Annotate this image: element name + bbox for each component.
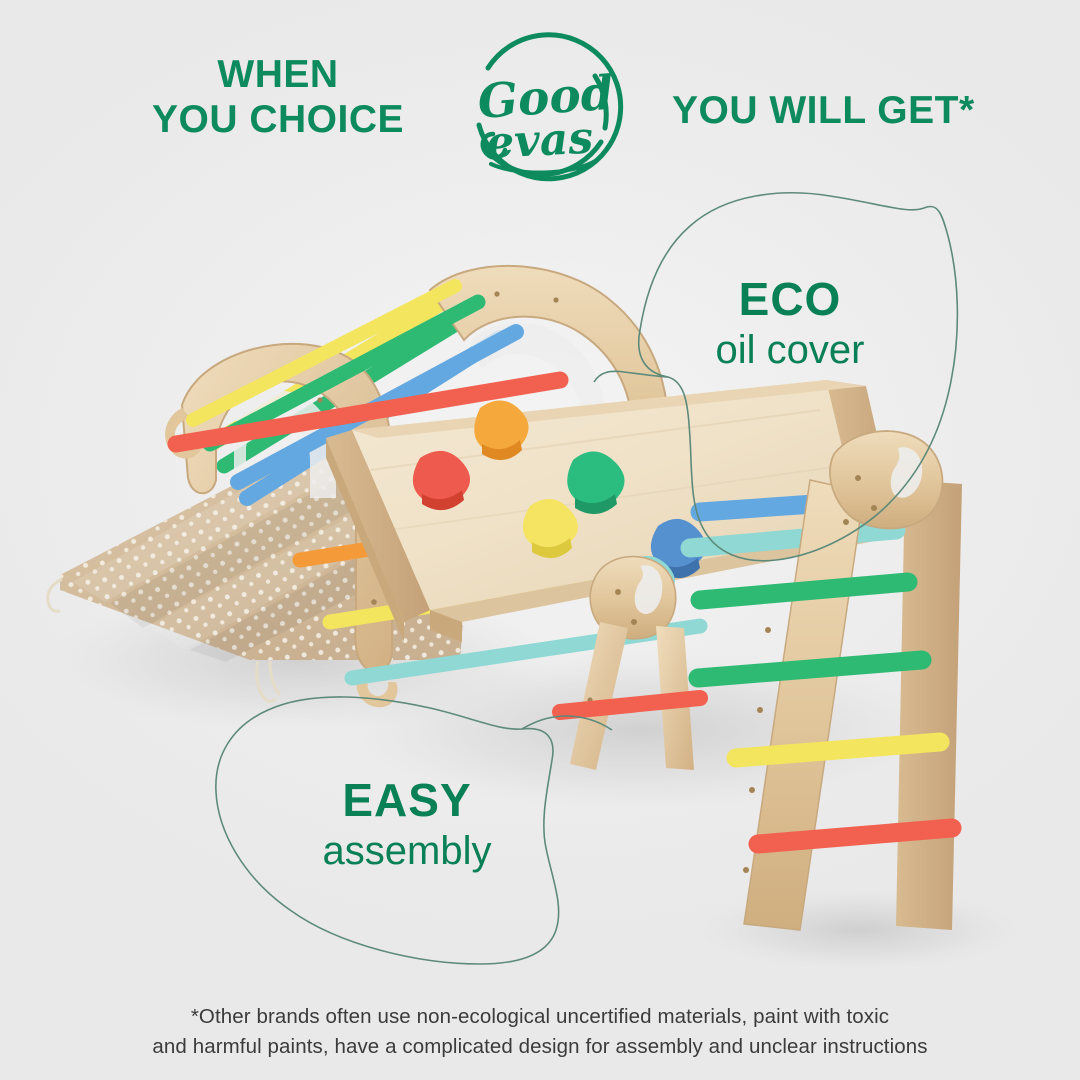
goodevas-logo: Good evas <box>455 30 627 202</box>
easy-subtitle: assembly <box>262 829 552 874</box>
svg-text:evas: evas <box>485 112 594 169</box>
headline-left-line1: WHEN <box>128 52 428 97</box>
headline-left: WHEN YOU CHOICE <box>128 52 428 142</box>
footnote: *Other brands often use non-ecological u… <box>0 1002 1080 1062</box>
promo-banner: ECO oil cover EASY assembly WHEN YOU CHO… <box>0 0 1080 1080</box>
headline-right: YOU WILL GET* <box>672 88 1022 133</box>
eco-title: ECO <box>645 274 935 326</box>
grip-orange <box>474 400 528 460</box>
headline-left-line2: YOU CHOICE <box>128 97 428 142</box>
easy-title: EASY <box>262 775 552 827</box>
ladder-right <box>672 431 962 930</box>
footnote-line2: and harmful paints, have a complicated d… <box>0 1032 1080 1062</box>
easy-callout-text: EASY assembly <box>262 775 552 874</box>
footnote-line1: *Other brands often use non-ecological u… <box>0 1002 1080 1032</box>
eco-callout-text: ECO oil cover <box>645 274 935 373</box>
eco-subtitle: oil cover <box>645 328 935 373</box>
